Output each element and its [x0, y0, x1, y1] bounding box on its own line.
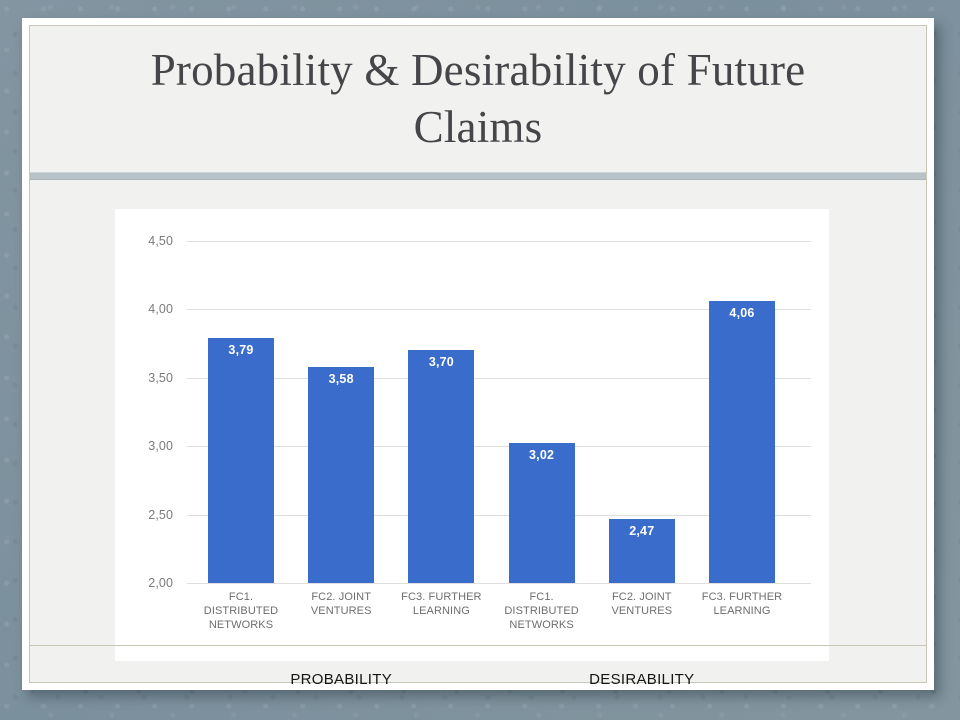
title-block: Probability & Desirability of Future Cla…: [30, 26, 926, 172]
x-axis-category-label: FC3. FURTHER LEARNING: [391, 590, 491, 618]
bar-value-label: 3,79: [208, 343, 274, 357]
group-caption-desirability: DESIRABILITY: [532, 671, 752, 688]
bar-value-label: 4,06: [709, 306, 775, 320]
y-axis-tick-label: 2,00: [115, 576, 173, 590]
bar-value-label: 3,58: [308, 372, 374, 386]
footer-divider: [30, 645, 926, 646]
bar-value-label: 3,02: [509, 448, 575, 462]
bar[interactable]: [408, 350, 474, 583]
y-axis-tick-label: 4,00: [115, 302, 173, 316]
bar[interactable]: [208, 338, 274, 583]
y-axis-tick-label: 4,50: [115, 234, 173, 248]
y-axis-tick-label: 3,00: [115, 439, 173, 453]
bar[interactable]: [308, 367, 374, 583]
gridline: [187, 241, 811, 242]
x-axis-category-label: FC1. DISTRIBUTED NETWORKS: [191, 590, 291, 632]
slide-inner-frame: Probability & Desirability of Future Cla…: [29, 25, 927, 683]
group-caption-probability: PROBABILITY: [231, 671, 451, 688]
chart-body: 2,002,503,003,504,004,503,79FC1. DISTRIB…: [30, 179, 926, 682]
bar-value-label: 3,70: [408, 355, 474, 369]
y-axis-tick-label: 3,50: [115, 371, 173, 385]
x-axis-category-label: FC2. JOINT VENTURES: [592, 590, 692, 618]
x-axis-category-label: FC3. FURTHER LEARNING: [692, 590, 792, 618]
page-title: Probability & Desirability of Future Cla…: [148, 42, 808, 155]
x-axis-category-label: FC2. JOINT VENTURES: [291, 590, 391, 618]
slide: Probability & Desirability of Future Cla…: [22, 18, 934, 690]
bar[interactable]: [509, 443, 575, 583]
gridline: [187, 583, 811, 584]
plot-area: 2,002,503,003,504,004,503,79FC1. DISTRIB…: [115, 209, 829, 661]
y-axis-tick-label: 2,50: [115, 508, 173, 522]
bar[interactable]: [709, 301, 775, 583]
chart-panel: 2,002,503,003,504,004,503,79FC1. DISTRIB…: [115, 209, 829, 661]
x-axis-category-label: FC1. DISTRIBUTED NETWORKS: [492, 590, 592, 632]
bar-value-label: 2,47: [609, 524, 675, 538]
